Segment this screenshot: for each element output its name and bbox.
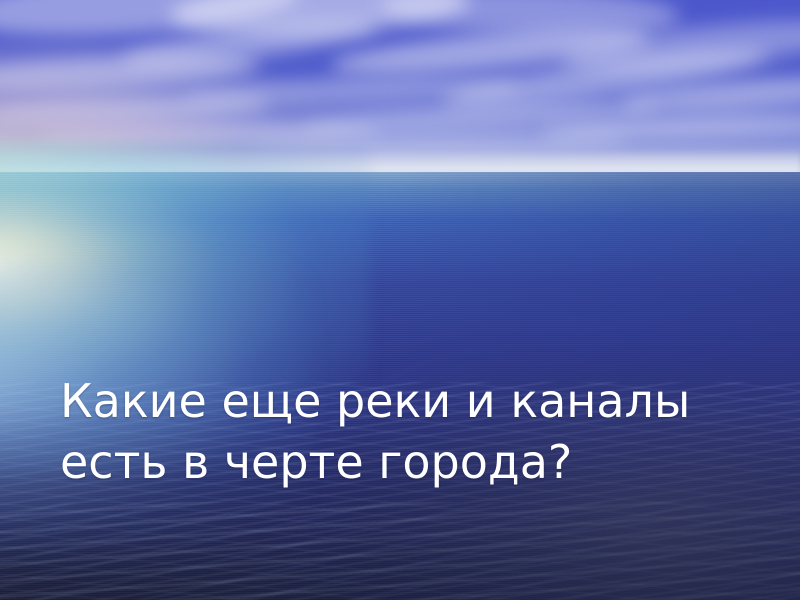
slide-title-line-2: есть в черте города? — [60, 432, 740, 493]
slide-title-line-1: Какие еще реки и каналы — [60, 371, 740, 432]
slide-title: Какие еще реки и каналы есть в черте гор… — [60, 371, 740, 493]
slide-canvas: Какие еще реки и каналы есть в черте гор… — [0, 0, 800, 600]
